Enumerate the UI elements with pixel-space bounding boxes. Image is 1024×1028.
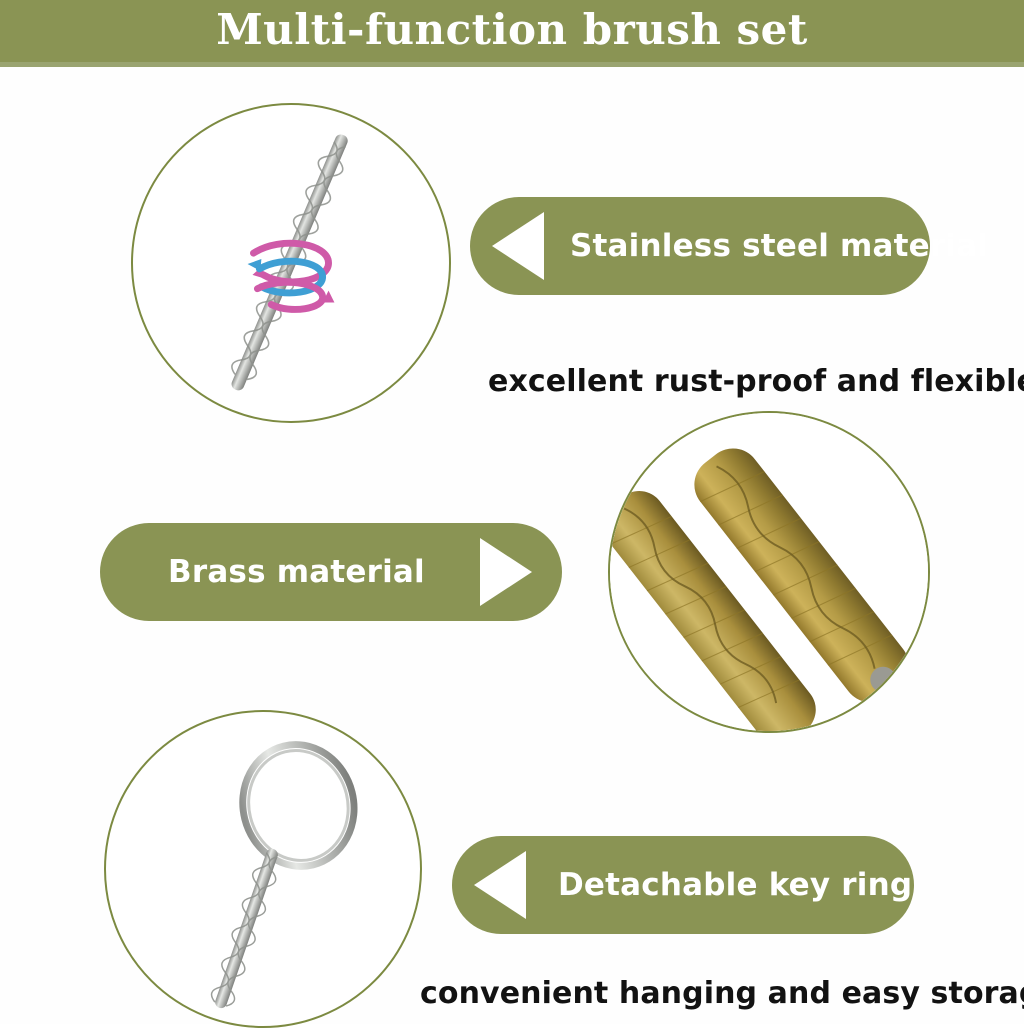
- header-underline: [0, 62, 1024, 67]
- feature-pill-brass[interactable]: Brass material: [100, 523, 562, 621]
- feature-pill-stainless-steel[interactable]: Stainless steel material: [470, 197, 930, 295]
- page-title: Multi-function brush set: [216, 9, 808, 51]
- brass-brush-icon: [610, 413, 928, 731]
- feature-pill-key-ring[interactable]: Detachable key ring: [452, 836, 914, 934]
- header-banner: Multi-function brush set: [0, 0, 1024, 62]
- photo-inner-key-ring: [106, 712, 420, 1026]
- triangle-right-icon: [480, 538, 532, 606]
- photo-stainless-steel: [131, 103, 451, 423]
- feature-pill-label-stainless-steel: Stainless steel material: [570, 228, 988, 264]
- photo-brass-brushes: [608, 411, 930, 733]
- caption-key-ring: convenient hanging and easy storage: [420, 976, 1024, 1011]
- photo-key-ring: [104, 710, 422, 1028]
- triangle-left-icon: [492, 212, 544, 280]
- photo-inner-brass: [610, 413, 928, 731]
- triangle-left-icon: [474, 851, 526, 919]
- key-ring-wire-icon: [106, 712, 420, 1026]
- photo-inner-stainless-steel: [133, 105, 449, 421]
- feature-pill-label-brass: Brass material: [168, 554, 425, 590]
- feature-pill-label-key-ring: Detachable key ring: [558, 867, 912, 903]
- twisted-wire-icon: [133, 105, 449, 421]
- caption-stainless-steel: excellent rust-proof and flexible: [488, 364, 1024, 399]
